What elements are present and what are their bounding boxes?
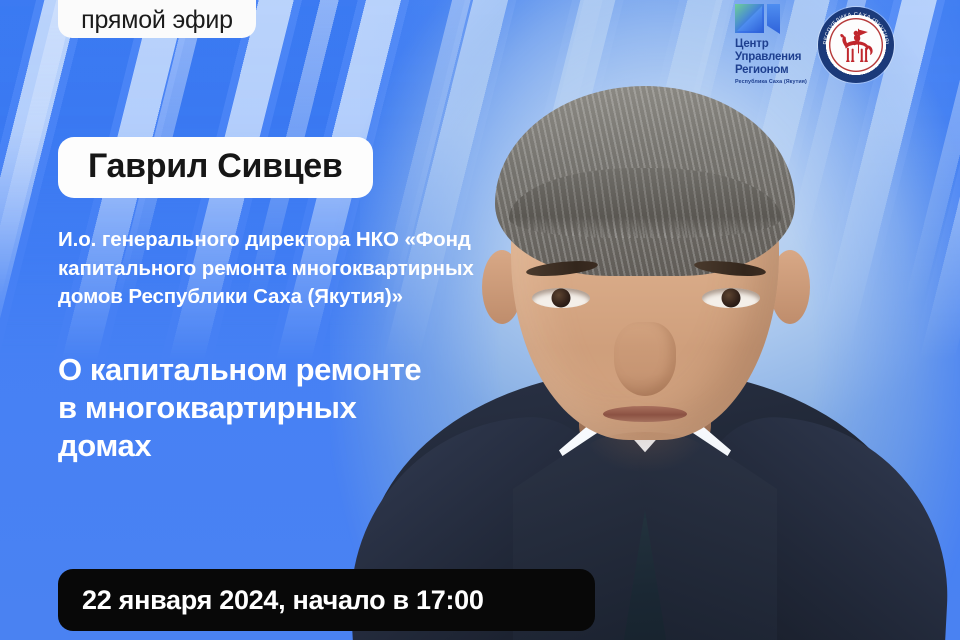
cur-logo: Центр Управления Регионом Республика Сах… <box>735 4 807 85</box>
schedule-label: 22 января 2024, начало в 17:00 <box>82 585 484 616</box>
speaker-role-line-3: домов Республики Саха (Якутия)» <box>58 283 558 312</box>
broadcast-topic: О капитальном ремонте в многоквартирных … <box>58 351 528 464</box>
cur-logo-square <box>735 4 764 33</box>
cur-logo-line-1: Центр <box>735 38 807 51</box>
cur-logo-line-2: Управления <box>735 51 807 64</box>
speaker-name-badge: Гаврил Сивцев <box>58 137 373 198</box>
cur-logo-subtitle: Республика Саха (Якутия) <box>735 79 807 85</box>
emblem-horseman-icon <box>836 28 876 66</box>
live-badge: прямой эфир <box>58 0 256 38</box>
cur-logo-flag <box>767 4 780 34</box>
speaker-portrait <box>330 0 960 640</box>
live-badge-label: прямой эфир <box>81 8 233 33</box>
portrait-iris-right <box>722 289 741 308</box>
topic-line-1: О капитальном ремонте <box>58 351 528 389</box>
schedule-badge: 22 января 2024, начало в 17:00 <box>58 569 595 631</box>
portrait-mouth <box>603 406 687 422</box>
cur-logo-text: Центр Управления Регионом <box>735 38 807 77</box>
portrait-nose <box>614 322 676 396</box>
speaker-role-line-1: И.о. генерального директора НКО «Фонд <box>58 226 558 255</box>
yakutia-emblem-icon: РЕСПУБЛИКА САХА (ЯКУТИЯ) САХА ӨРӨСПҮҮБҮЛ… <box>818 7 894 83</box>
topic-line-3: домах <box>58 427 528 465</box>
cur-logo-line-3: Регионом <box>735 64 807 77</box>
portrait-chin <box>585 432 705 472</box>
live-broadcast-poster: прямой эфир Гаврил Сивцев И.о. генеральн… <box>0 0 960 640</box>
speaker-role: И.о. генерального директора НКО «Фонд ка… <box>58 226 558 312</box>
speaker-role-line-2: капитального ремонта многоквартирных <box>58 255 558 284</box>
topic-line-2: в многоквартирных <box>58 389 528 427</box>
portrait-eye-right <box>702 288 760 308</box>
cur-logo-mark-icon <box>735 4 781 34</box>
speaker-name: Гаврил Сивцев <box>88 147 343 185</box>
